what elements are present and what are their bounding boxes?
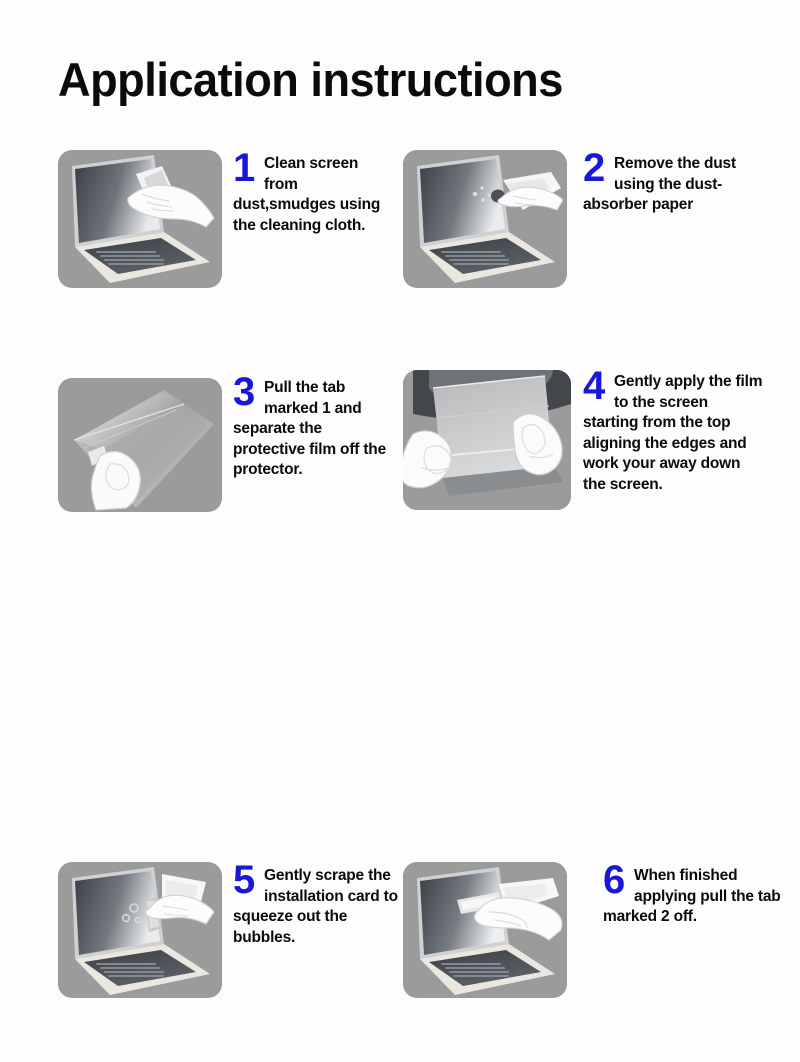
step-5-caption: 5 Gently scrape the installation card to… <box>233 866 398 948</box>
step-4-caption: 4 Gently apply the film to the screen st… <box>583 372 763 495</box>
step-6-text: When finished applying pull the tab mark… <box>603 866 783 928</box>
step-3: 3 Pull the tab marked 1 and separate the… <box>0 360 400 600</box>
film-peel-tab-icon <box>58 378 222 512</box>
step-4-number: 4 <box>583 369 605 403</box>
two-hands-apply-film-icon <box>403 370 571 510</box>
step-6-caption: 6 When finished applying pull the tab ma… <box>603 866 783 928</box>
page-title: Application instructions <box>58 52 563 107</box>
step-6-illustration <box>403 862 567 998</box>
step-3-caption: 3 Pull the tab marked 1 and separate the… <box>233 378 398 481</box>
step-4: 4 Gently apply the film to the screen st… <box>400 360 800 600</box>
step-3-number: 3 <box>233 375 255 409</box>
laptop-scrape-card-icon <box>58 862 222 998</box>
step-5: 5 Gently scrape the installation card to… <box>0 842 400 1062</box>
steps-grid: 1 Clean screen from dust,smudges using t… <box>0 132 800 372</box>
step-4-illustration <box>403 370 571 510</box>
step-5-text: Gently scrape the installation card to s… <box>233 866 398 948</box>
step-3-illustration <box>58 378 222 512</box>
step-row-2: 3 Pull the tab marked 1 and separate the… <box>0 132 800 372</box>
step-5-number: 5 <box>233 863 255 897</box>
step-5-illustration <box>58 862 222 998</box>
instruction-poster: Application instructions <box>0 0 800 801</box>
step-6: 6 When finished applying pull the tab ma… <box>400 842 800 1062</box>
step-3-text: Pull the tab marked 1 and separate the p… <box>233 378 398 481</box>
laptop-pull-tab-icon <box>403 862 567 998</box>
step-4-text: Gently apply the film to the screen star… <box>583 372 763 495</box>
step-6-number: 6 <box>603 863 625 897</box>
